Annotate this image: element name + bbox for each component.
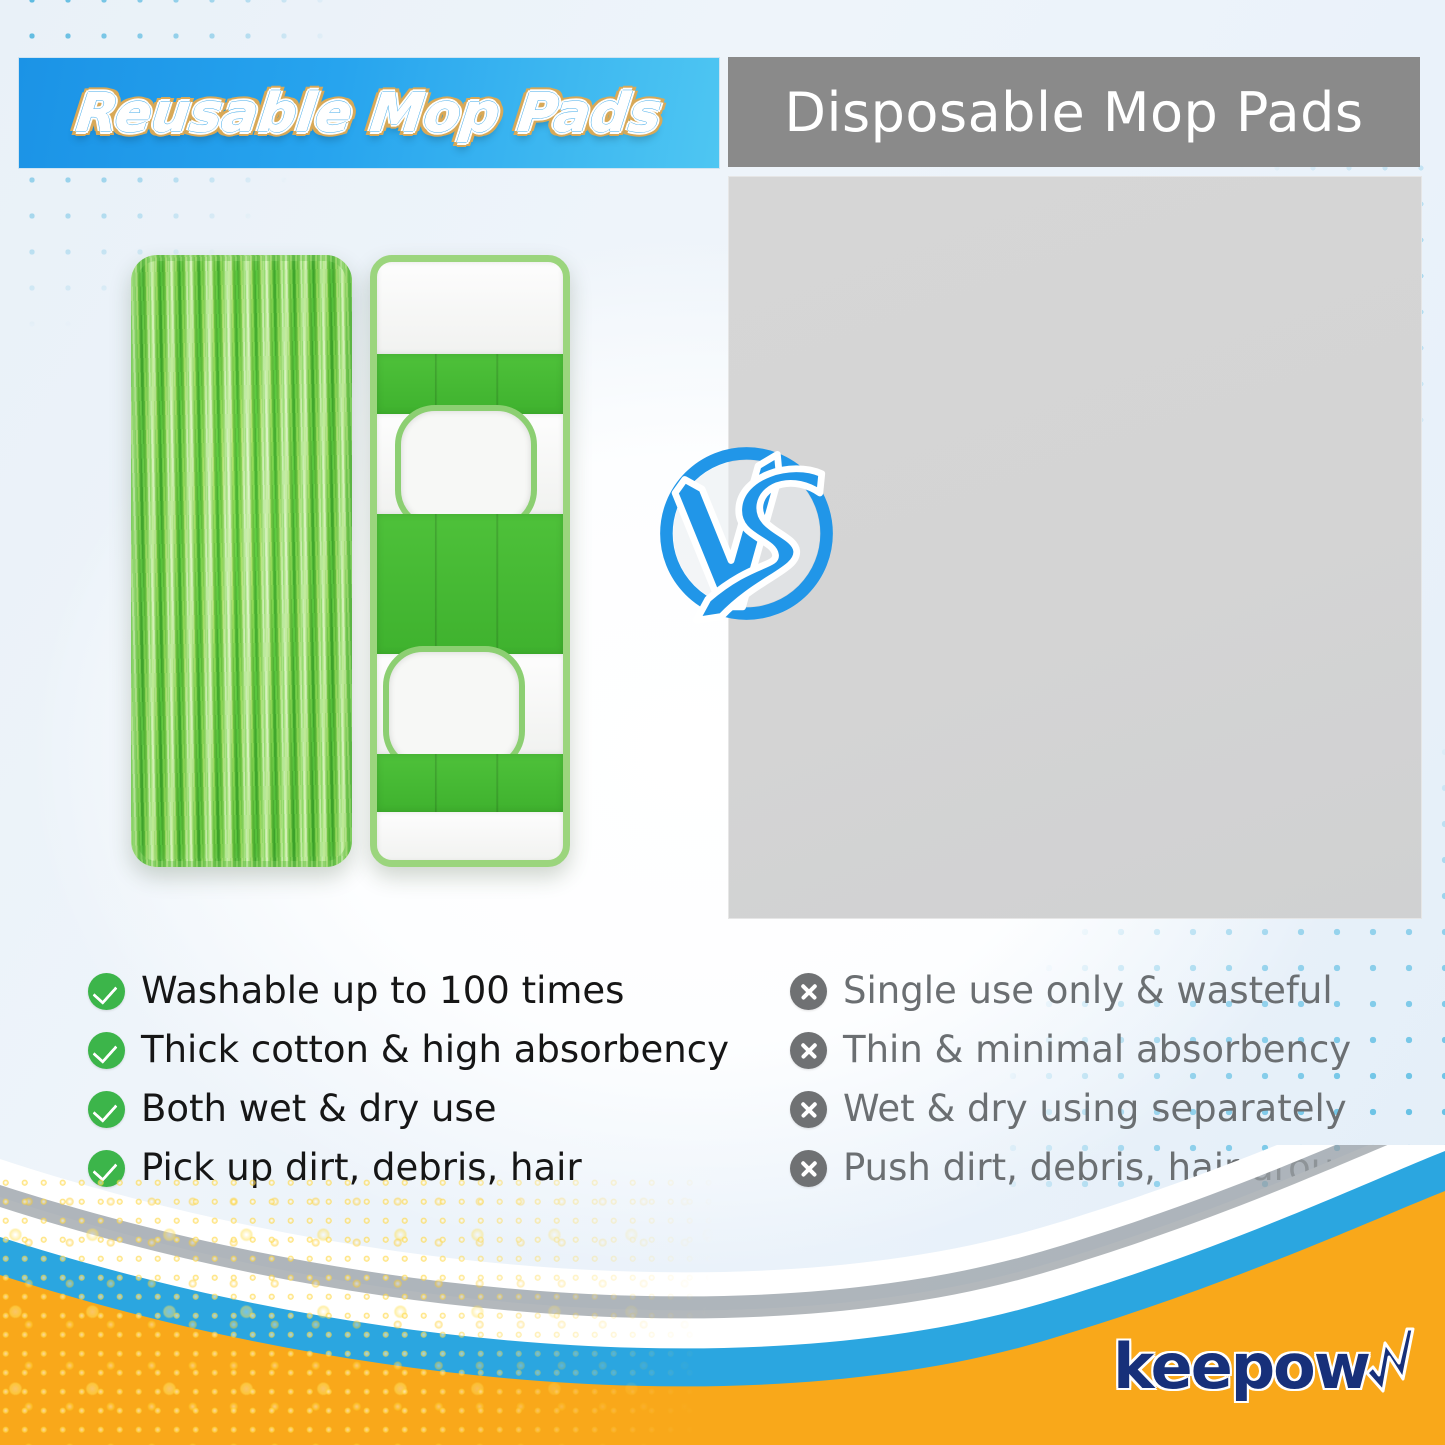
green-microfiber-mop-pad-front bbox=[131, 255, 352, 867]
velcro-strip-top bbox=[377, 262, 563, 354]
list-item: Thin & minimal absorbency bbox=[790, 1021, 1410, 1079]
list-item: Washable up to 100 times bbox=[88, 962, 738, 1020]
disposable-header-banner: Disposable Mop Pads bbox=[728, 57, 1420, 167]
x-circle-icon bbox=[790, 973, 827, 1010]
check-circle-icon bbox=[88, 973, 125, 1010]
list-item: Both wet & dry use bbox=[88, 1080, 738, 1138]
x-circle-icon bbox=[790, 1091, 827, 1128]
disposable-header-title: Disposable Mop Pads bbox=[784, 81, 1363, 144]
pocket-opening-top bbox=[395, 405, 537, 530]
drawback-text: Thin & minimal absorbency bbox=[843, 1031, 1351, 1070]
green-microfiber-mop-pad-back bbox=[370, 255, 570, 867]
reusable-header-banner: Reusable Mop Pads bbox=[18, 57, 720, 169]
check-circle-icon bbox=[88, 1091, 125, 1128]
benefit-text: Both wet & dry use bbox=[141, 1090, 497, 1129]
list-item: Thick cotton & high absorbency bbox=[88, 1021, 738, 1079]
infographic-canvas: Reusable Mop Pads Disposable Mop Pads bbox=[0, 0, 1445, 1445]
list-item: Single use only & wasteful bbox=[790, 962, 1410, 1020]
drawback-text: Single use only & wasteful bbox=[843, 972, 1333, 1011]
versus-badge bbox=[650, 437, 843, 630]
drawback-text: Wet & dry using separately bbox=[843, 1090, 1347, 1129]
benefit-text: Thick cotton & high absorbency bbox=[141, 1031, 729, 1070]
keepow-logo-text: keepow bbox=[1113, 1330, 1369, 1403]
lightning-bolt-icon bbox=[1363, 1327, 1417, 1397]
pocket-opening-bottom bbox=[383, 646, 525, 771]
green-band-center bbox=[377, 514, 563, 654]
velcro-strip-bottom bbox=[377, 812, 563, 862]
reusable-header-title: Reusable Mop Pads bbox=[73, 83, 665, 144]
check-circle-icon bbox=[88, 1032, 125, 1069]
keepow-logo: keepow bbox=[1113, 1327, 1417, 1403]
list-item: Wet & dry using separately bbox=[790, 1080, 1410, 1138]
x-circle-icon bbox=[790, 1032, 827, 1069]
green-band-2 bbox=[377, 754, 563, 812]
benefit-text: Washable up to 100 times bbox=[141, 972, 624, 1011]
